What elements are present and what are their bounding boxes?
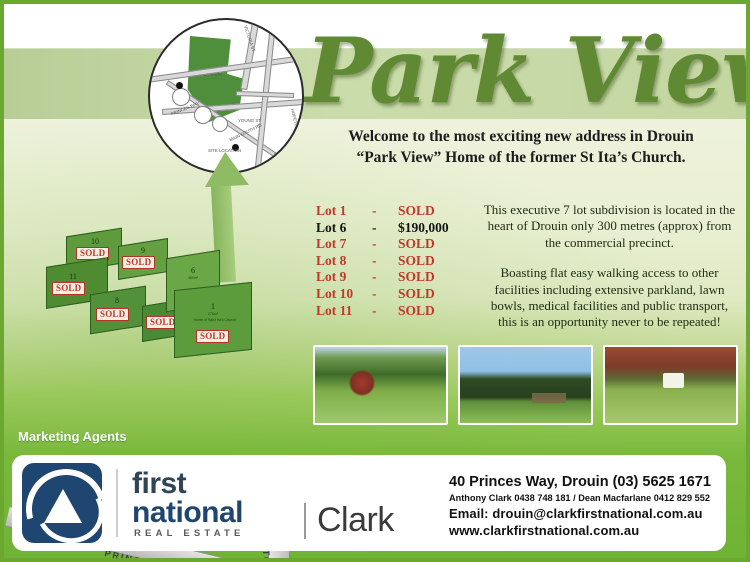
lot-dash: - — [372, 286, 398, 302]
sold-sticker: SOLD — [52, 282, 85, 295]
subdivision-site-plan: 10 SOLD 11 SOLD 9 SOLD 8 SOLD 7 SOLD 6 4… — [18, 228, 318, 388]
footer-panel: first national REAL ESTATE Clark 40 Prin… — [12, 455, 726, 551]
lot-number: 1 — [198, 302, 228, 311]
lot-area: 276m² — [191, 312, 235, 317]
contact-address-phone: 40 Princes Way, Drouin (03) 5625 1671 — [449, 473, 721, 491]
lot-label: Lot 11 — [316, 303, 372, 319]
lot-label: Lot 8 — [316, 253, 372, 269]
lot-number: 10 — [80, 237, 110, 246]
lot-status: SOLD — [398, 286, 466, 302]
description-paragraph-1: This executive 7 lot subdivision is loca… — [482, 202, 737, 251]
lot-dash: - — [372, 253, 398, 269]
lot-label: Lot 10 — [316, 286, 372, 302]
marketing-agents-label: Marketing Agents — [18, 429, 127, 444]
logo-divider — [116, 469, 118, 537]
lot-price-list: Lot 1 - SOLD Lot 6 - $190,000 Lot 7 - SO… — [316, 203, 466, 319]
lot-row: Lot 6 - $190,000 — [316, 220, 466, 237]
contact-website[interactable]: www.clarkfirstnational.com.au — [449, 522, 721, 539]
locality-roundabout — [194, 106, 212, 124]
sold-sticker: SOLD — [96, 308, 129, 321]
lot-number: 11 — [58, 272, 88, 281]
lot-status: SOLD — [398, 253, 466, 269]
lot-row: Lot 1 - SOLD — [316, 203, 466, 220]
contact-block: 40 Princes Way, Drouin (03) 5625 1671 An… — [449, 473, 721, 539]
welcome-line-2: “Park View” Home of the former St Ita’s … — [305, 147, 737, 168]
lot-number: 6 — [178, 266, 208, 275]
contact-email[interactable]: Email: drouin@clarkfirstnational.com.au — [449, 505, 721, 522]
lot-status: SOLD — [398, 303, 466, 319]
lot-note: home of Saint Ita’s Church — [185, 318, 245, 323]
sold-sticker: SOLD — [122, 256, 155, 269]
lot-dash: - — [372, 269, 398, 285]
lot-status: SOLD — [398, 203, 466, 219]
page-title: Park View — [305, 12, 745, 132]
lot-row: Lot 11 - SOLD — [316, 303, 466, 320]
sold-sticker: SOLD — [196, 330, 229, 343]
lot-status: SOLD — [398, 269, 466, 285]
lot-dash: - — [372, 203, 398, 219]
first-national-logo-icon — [22, 463, 102, 543]
locality-map: EAST PARK VICTORIA ST YOUNG ST PRINCES W… — [148, 18, 304, 174]
lot-dash: - — [372, 236, 398, 252]
description-paragraph-2: Boasting flat easy walking access to oth… — [482, 265, 737, 331]
locality-roundabout — [212, 116, 228, 132]
logo-word-national: national — [132, 496, 243, 530]
photo-autumn-trees-sign — [603, 345, 738, 425]
park-view-advertisement: Park View Welcome to the most exciting n… — [0, 0, 750, 562]
lot-dash: - — [372, 303, 398, 319]
lot-status: SOLD — [398, 236, 466, 252]
contact-agent-names: Anthony Clark 0438 748 181 / Dean Macfar… — [449, 491, 721, 505]
lot-dash: - — [372, 220, 398, 236]
locality-street — [236, 91, 294, 98]
logo-triangle — [44, 489, 82, 523]
logo-office-divider — [304, 503, 306, 539]
welcome-line-1: Welcome to the most exciting new address… — [305, 126, 737, 147]
lot-area: 480m² — [171, 276, 215, 281]
locality-street-label: HOPETOUN RD — [290, 108, 303, 141]
lot-label: Lot 6 — [316, 220, 372, 236]
locality-street-label: YOUNG ST — [238, 118, 261, 123]
logo-tagline: REAL ESTATE — [134, 528, 245, 539]
lot-row: Lot 8 - SOLD — [316, 253, 466, 270]
lot-label: Lot 1 — [316, 203, 372, 219]
description-block: This executive 7 lot subdivision is loca… — [482, 202, 737, 331]
lot-number: 8 — [102, 296, 132, 305]
lot-row: Lot 10 - SOLD — [316, 286, 466, 303]
lot-row: Lot 9 - SOLD — [316, 269, 466, 286]
locality-roundabout — [172, 88, 190, 106]
lot-row: Lot 7 - SOLD — [316, 236, 466, 253]
photo-parkland-red-tree — [313, 345, 448, 425]
lot-price: $190,000 — [398, 220, 466, 236]
lot-label: Lot 7 — [316, 236, 372, 252]
logo-office-name: Clark — [317, 501, 394, 540]
photo-treeline-oval — [458, 345, 593, 425]
locality-marker-dot — [176, 82, 183, 89]
welcome-heading: Welcome to the most exciting new address… — [305, 126, 737, 168]
photo-strip — [313, 345, 738, 425]
arrow-head — [203, 151, 249, 187]
lot-number: 9 — [128, 246, 158, 255]
lot-label: Lot 9 — [316, 269, 372, 285]
